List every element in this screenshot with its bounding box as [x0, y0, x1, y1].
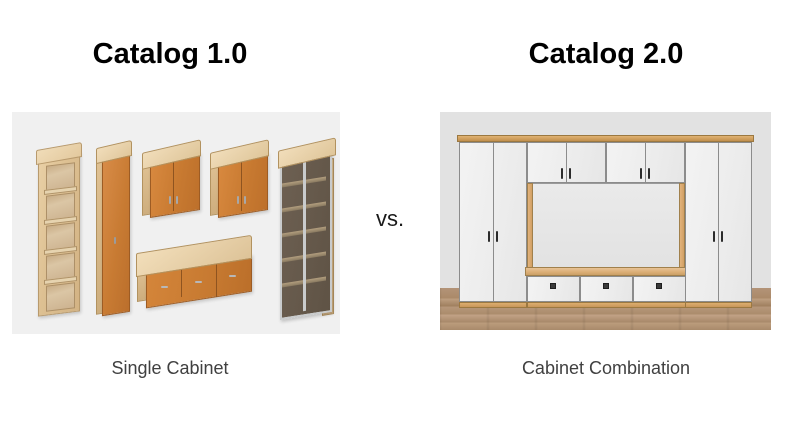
tall-cabinet-right-handle-icon [721, 231, 723, 242]
base-drawer-3-handle-icon [656, 283, 662, 289]
upper-cabinet-left-door-seam [566, 143, 567, 182]
upper-cabinet-right-door-seam [645, 143, 646, 182]
furniture-wall-cabinet-right [208, 144, 270, 220]
wall-cabinet-door-seam [241, 157, 242, 211]
tall-cabinet-door [102, 152, 130, 316]
sideboard-handle-icon [195, 281, 202, 283]
tall-cabinet-right-door-seam [718, 143, 719, 301]
wall-cabinet-handle-icon [169, 196, 171, 204]
sideboard-drawer-seam [216, 263, 217, 297]
tall-cabinet-right-handle-icon [713, 231, 715, 242]
versus-label: vs. [340, 206, 440, 232]
unit-top-trim [457, 135, 754, 142]
niche-wood-shelf [525, 267, 687, 276]
left-caption: Single Cabinet [0, 358, 340, 379]
upper-cabinet-left-handle-icon [569, 168, 571, 179]
center-media-niche [527, 183, 685, 271]
base-drawer-2 [580, 276, 633, 302]
base-unit-plinth [527, 302, 686, 308]
furniture-sideboard [134, 240, 256, 312]
base-drawer-1-handle-icon [550, 283, 556, 289]
furniture-glass-display-cabinet [274, 142, 336, 320]
furniture-tall-door-cabinet [94, 142, 136, 318]
cabinet-combination-unit [457, 135, 754, 309]
comparison-slide: Catalog 1.0 Catalog 2.0 [0, 0, 806, 445]
left-title: Catalog 1.0 [0, 38, 340, 71]
right-image-panel [440, 112, 771, 330]
right-title: Catalog 2.0 [440, 38, 772, 71]
wall-cabinet-handle-icon [237, 196, 239, 204]
upper-cabinet-right-handle-icon [648, 168, 650, 179]
base-drawer-1 [527, 276, 580, 302]
niche-left-jamb [527, 183, 533, 271]
furniture-open-bookshelf [34, 144, 84, 316]
upper-cabinet-left-handle-icon [561, 168, 563, 179]
upper-cabinet-right-handle-icon [640, 168, 642, 179]
wall-cabinet-handle-icon [244, 196, 246, 204]
bookshelf-cell [46, 282, 75, 312]
tall-cabinet-left-handle-icon [488, 231, 490, 242]
wall-cabinet-door-seam [173, 157, 174, 211]
base-drawer-2-handle-icon [603, 283, 609, 289]
sideboard-handle-icon [161, 286, 168, 288]
tall-cabinet-left-handle-icon [496, 231, 498, 242]
tall-cabinet-left-door-seam [493, 143, 494, 301]
base-drawer-3 [633, 276, 686, 302]
tall-cabinet-right-plinth [685, 302, 752, 308]
sideboard-handle-icon [229, 275, 236, 277]
left-image-panel [12, 112, 340, 334]
furniture-wall-cabinet-left [140, 144, 202, 220]
tall-cabinet-knob-icon [114, 237, 116, 244]
wall-cabinet-handle-icon [176, 196, 178, 204]
tall-cabinet-left-plinth [459, 302, 527, 308]
display-cabinet-mullion [303, 157, 306, 311]
right-caption: Cabinet Combination [440, 358, 772, 379]
